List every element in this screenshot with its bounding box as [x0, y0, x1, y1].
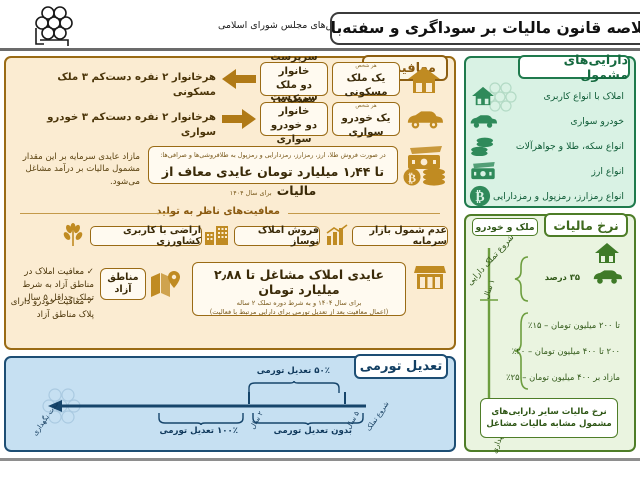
asset-item-1: خودرو سواری: [468, 109, 628, 133]
car-icon: [468, 113, 498, 129]
segment-0-label: بدون تعدیل تورمی: [274, 426, 352, 436]
production-divider-label: معافیت‌های ناظر به تولید: [150, 206, 286, 217]
page-title: خلاصه قانون مالیات بر سوداگری و سفته‌باز…: [330, 19, 640, 37]
production-item-1: فروش املاک نوساز: [234, 226, 320, 246]
capital-gain-main: تا ۱٫۴۴ میلیارد تومان عایدی معاف از مالی…: [162, 164, 384, 198]
capital-gain-fine-print: در صورت فروش طلا، ارز، رمزارز، رمزدارایی…: [149, 151, 397, 159]
included-assets-badge: دارایی‌های مشمول: [518, 55, 630, 79]
asset-item-3: انواع ارز: [468, 159, 628, 183]
vehicle-person-box: هر شخص یک خودرو سواری: [332, 102, 400, 136]
check-icon: ✓: [87, 267, 94, 277]
page-title-plate: خلاصه قانون مالیات بر سوداگری و سفته‌باز…: [330, 12, 640, 45]
bitcoin-icon: ₿: [404, 169, 421, 186]
included-assets-panel: دارایی‌های مشمول املاک با انواع کاربری خ…: [464, 56, 636, 208]
footer-divider: [0, 458, 640, 461]
housing-person-small: هر شخص: [355, 63, 376, 69]
svg-text:₿: ₿: [408, 171, 416, 185]
segment-0-brace-icon: [252, 412, 364, 426]
buildings-icon: [204, 224, 230, 250]
segment-1-brace-icon: [248, 380, 342, 394]
car-icon: [592, 268, 622, 289]
shop-icon: [410, 264, 446, 294]
house-icon: [594, 242, 620, 268]
tax-rate-bracket-2: مازاد بر ۴۰۰ میلیون تومان – ۲۵٪: [506, 372, 620, 382]
banknote-icon: [468, 162, 498, 180]
capital-gain-side-note: مازاد عایدی سرمایه بر این مقدار مشمول ما…: [12, 151, 140, 188]
vehicle-family-line2: دو خودرو سواری: [264, 119, 324, 147]
vehicle-result-text: هرخانوار ۲ نفره دست‌کم ۳ خودرو سواری: [16, 111, 216, 141]
tax-rates-badge: نرخ مالیات: [544, 213, 628, 237]
coins-icon: [423, 168, 445, 185]
vehicle-person-small: هر شخص: [355, 103, 376, 109]
business-income-note1: برای سال ۱۴۰۴ و به شرط دوره تملک ۲ ساله: [193, 299, 405, 307]
vehicle-family-box: سرپرست خانوار دو خودرو سواری: [260, 102, 328, 136]
svg-text:₿: ₿: [476, 189, 485, 205]
tax-rates-panel: نرخ مالیات ملک و خودرو شروع تملک دارایی …: [464, 214, 636, 452]
header: مرکز پژوهش‌های مجلس شورای اسلامی خلاصه ق…: [0, 0, 640, 52]
house-icon: [402, 64, 446, 96]
housing-person-box: هر شخص یک ملک مسکونی: [332, 62, 400, 96]
coins-icon: [468, 136, 498, 156]
production-divider-left: [20, 213, 172, 214]
tax-rates-subject-badge: ملک و خودرو: [472, 218, 538, 236]
capital-gain-year-note: برای سال ۱۴۰۴: [230, 189, 272, 197]
inflation-badge: تعدیل تورمی: [354, 354, 448, 379]
segment-1-label: ۵۰٪ تعدیل تورمی: [257, 366, 330, 376]
exemptions-panel: معافیت‌ها هر شخص یک ملک مسکونی سرپرست خا…: [4, 56, 456, 350]
house-icon: [468, 86, 498, 106]
infographic-page: مرکز پژوهش‌های مجلس شورای اسلامی خلاصه ق…: [0, 0, 640, 480]
free-zone-badge: مناطق آزاد: [100, 268, 146, 300]
bracket-1-icon: [514, 256, 530, 304]
production-divider-right: [288, 213, 440, 214]
free-zone-line1: مناطق: [107, 272, 138, 284]
wheat-icon: [60, 223, 86, 251]
inflation-adjustment-panel: تعدیل تورمی شروع تملک ۲ سال ۵ سال مدت نگ…: [4, 356, 456, 452]
business-income-main: عایدی املاک مشاغل تا ۲٫۸۸ میلیارد تومان: [193, 267, 405, 297]
asset-item-2: انواع سکه، طلا و جواهرآلات: [468, 134, 628, 158]
check-icon: ✓: [87, 297, 94, 307]
business-income-box: عایدی املاک مشاغل تا ۲٫۸۸ میلیارد تومان …: [192, 262, 406, 316]
segment-2-label: ۱۰۰٪ تعدیل تورمی: [160, 426, 239, 436]
production-item-0: عدم شمول بازار سرمایه: [352, 226, 448, 246]
housing-result-text: هرخانوار ۲ نفره دست‌کم ۳ ملک مسکونی: [16, 71, 216, 101]
tax-rate-bracket-1: ۲۰۰ تا ۴۰۰ میلیون تومان – ۲۰٪: [512, 346, 620, 356]
asset-item-0: املاک با انواع کاربری: [468, 84, 628, 108]
arrow-left-icon: [222, 69, 256, 93]
inflation-start-label: شروع تملک: [364, 400, 390, 433]
production-item-2: اراضی با کاربری کشاورزی: [90, 226, 202, 246]
car-icon: [402, 104, 446, 134]
timeline-tick-1: [344, 392, 346, 404]
business-income-note2: (اعمال معافیت بعد از تعدیل تورمی برای دا…: [193, 308, 405, 316]
map-pin-icon: [148, 270, 182, 300]
vehicle-person-main: یک خودرو سواری: [336, 112, 396, 140]
housing-family-line1: سرپرست خانوار: [264, 51, 324, 79]
included-assets-list: املاک با انواع کاربری خودرو سواری انواع …: [468, 84, 628, 209]
arrow-right-icon: [222, 109, 256, 133]
free-zone-line2: آزاد: [114, 284, 131, 296]
tax-rate-first-bracket: ۳۵ درصد: [545, 272, 580, 282]
asset-item-4: انواع رمزارز، رمزپول و رمزدارایی ₿: [468, 184, 628, 208]
tax-rate-bracket-0: تا ۲۰۰ میلیون تومان – ۱۵٪: [528, 320, 620, 330]
banknote-icon: [408, 146, 442, 169]
capital-gain-box: در صورت فروش طلا، ارز، رمزارز، رمزدارایی…: [148, 146, 398, 184]
segment-2-brace-icon: [158, 412, 246, 426]
majlis-research-center-logo-icon: [34, 4, 80, 48]
free-zone-bullet-1: ✓ معافیت خودرو دارای پلاک مناطق آزاد: [10, 296, 94, 322]
chart-bar-icon: [326, 224, 348, 250]
other-assets-note-box: نرخ مالیات سایر دارایی‌های مشمول مشابه م…: [480, 398, 618, 438]
vehicle-family-line1: سرپرست خانوار: [264, 91, 324, 119]
bitcoin-icon: ₿: [468, 185, 493, 207]
housing-person-main: یک ملک مسکونی: [336, 72, 396, 100]
capital-gain-icons: ₿: [400, 144, 448, 186]
